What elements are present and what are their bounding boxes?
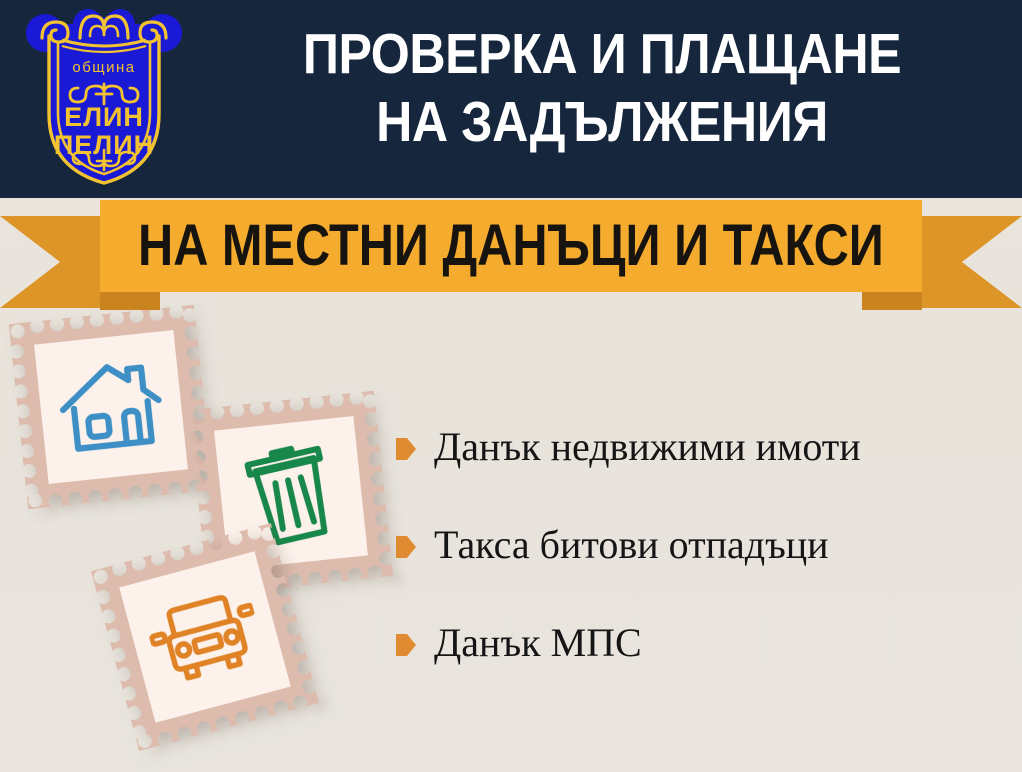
logo-text-obshtina: община [72, 59, 135, 76]
title-line-1: ПРОВЕРКА И ПЛАЩАНЕ [245, 20, 960, 88]
house-icon [54, 354, 167, 460]
ribbon-banner: НА МЕСТНИ ДАНЪЦИ И ТАКСИ [0, 196, 1022, 311]
stamp-paper-house [34, 330, 188, 484]
list-item-label: Такса битови отпадъци [434, 522, 829, 568]
logo-text-elin: ЕЛИН [64, 102, 144, 132]
list-item: Такса битови отпадъци [396, 522, 1016, 568]
arrow-bullet-icon [396, 632, 416, 658]
list-item: Данък МПС [396, 620, 1016, 666]
municipality-logo: община ЕЛИН ПЕЛИН [18, 2, 190, 188]
ribbon-label: НА МЕСТНИ ДАНЪЦИ И ТАКСИ [138, 216, 884, 276]
title-line-2: НА ЗАДЪЛЖЕНИЯ [245, 88, 960, 156]
arrow-bullet-icon [396, 534, 416, 560]
poster-root: община ЕЛИН ПЕЛИН ПРОВЕРКА И ПЛАЩАНЕ [0, 0, 1022, 772]
car-front-icon [142, 581, 269, 692]
stamp-card-group [0, 296, 420, 772]
tax-type-list: Данък недвижими имоти Такса битови отпад… [396, 424, 1016, 666]
stamp-card-house [9, 305, 213, 509]
list-item-label: Данък недвижими имоти [434, 424, 861, 470]
coat-of-arms-icon: община ЕЛИН ПЕЛИН [18, 2, 190, 188]
list-item: Данък недвижими имоти [396, 424, 1016, 470]
poster-title: ПРОВЕРКА И ПЛАЩАНЕ НА ЗАДЪЛЖЕНИЯ [196, 20, 1008, 156]
arrow-bullet-icon [396, 436, 416, 462]
ribbon-center: НА МЕСТНИ ДАНЪЦИ И ТАКСИ [100, 200, 922, 292]
list-item-label: Данък МПС [434, 620, 642, 666]
